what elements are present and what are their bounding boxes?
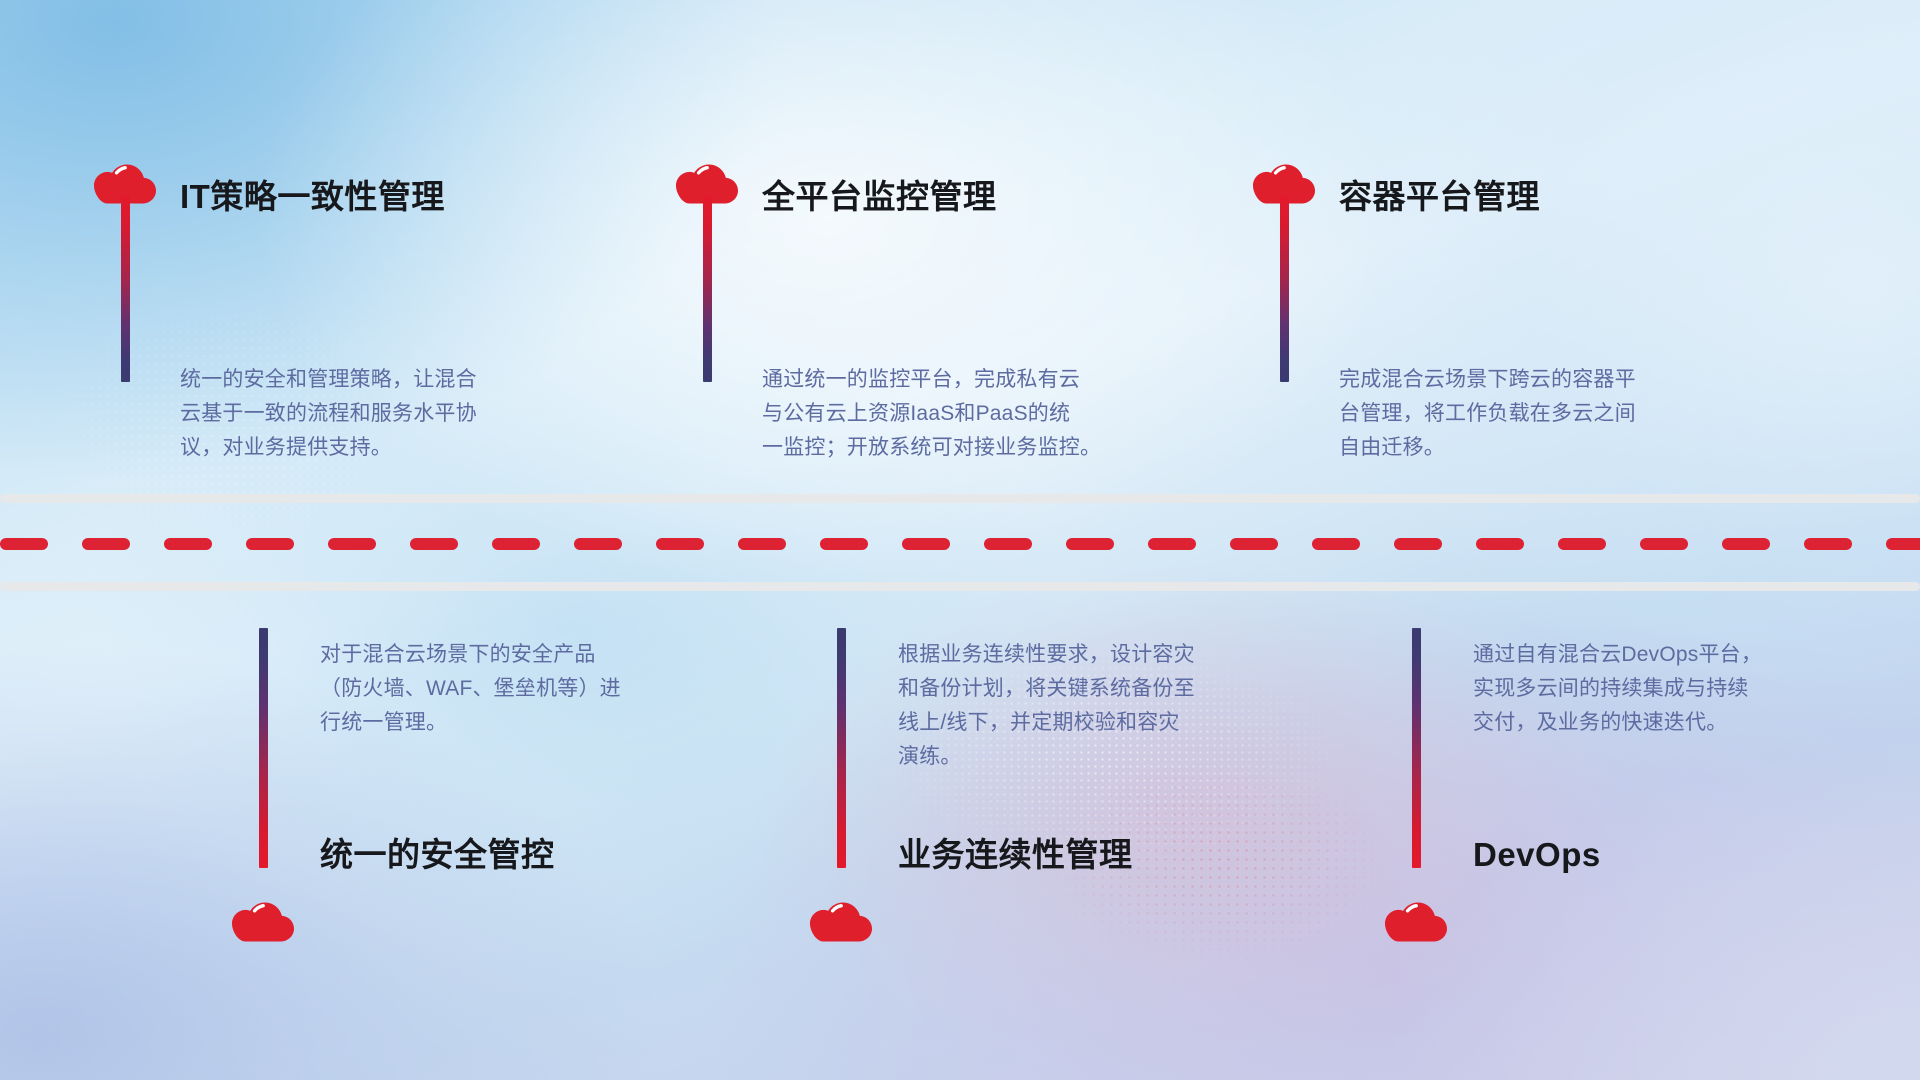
divider-dash <box>328 538 376 550</box>
divider-dash <box>902 538 950 550</box>
description-line: 自由迁移。 <box>1339 431 1704 465</box>
divider-dash <box>1312 538 1360 550</box>
description-line: 完成混合云场景下跨云的容器平 <box>1339 363 1704 397</box>
divider-dash <box>1066 538 1114 550</box>
description-line: 云基于一致的流程和服务水平协 <box>180 397 545 431</box>
description-line: 行统一管理。 <box>320 706 730 740</box>
feature-heading: IT策略一致性管理 <box>180 180 445 213</box>
feature-description: 统一的安全和管理策略，让混合 云基于一致的流程和服务水平协 议，对业务提供支持。 <box>180 363 545 465</box>
divider-dashed-line <box>0 538 1920 550</box>
feature-description: 完成混合云场景下跨云的容器平 台管理，将工作负载在多云之间 自由迁移。 <box>1339 363 1704 465</box>
feature-heading: DevOps <box>1473 838 1601 871</box>
connector-line <box>837 628 846 868</box>
connector-line <box>259 628 268 868</box>
divider-dash <box>1640 538 1688 550</box>
feature-description: 通过统一的监控平台，完成私有云 与公有云上资源IaaS和PaaS的统 一监控；开… <box>762 363 1142 465</box>
feature-description: 通过自有混合云DevOps平台， 实现多云间的持续集成与持续 交付，及业务的快速… <box>1473 638 1873 740</box>
connector-line <box>1412 628 1421 868</box>
divider-dash <box>164 538 212 550</box>
divider-dash <box>1148 538 1196 550</box>
divider-dash <box>1886 538 1920 550</box>
divider-rule-top <box>0 494 1920 503</box>
divider-dash <box>820 538 868 550</box>
divider-dash <box>574 538 622 550</box>
description-line: 演练。 <box>898 740 1308 774</box>
feature-heading: 全平台监控管理 <box>762 180 997 213</box>
divider-dash <box>1558 538 1606 550</box>
connector-line <box>1280 196 1289 382</box>
divider-dash <box>246 538 294 550</box>
description-line: 一监控；开放系统可对接业务监控。 <box>762 431 1142 465</box>
divider-dash <box>0 538 48 550</box>
description-line: 通过自有混合云DevOps平台， <box>1473 638 1873 672</box>
cloud-icon <box>1385 898 1447 942</box>
description-line: 与公有云上资源IaaS和PaaS的统 <box>762 397 1142 431</box>
connector-line <box>121 196 130 382</box>
divider-dash <box>1722 538 1770 550</box>
divider-dash <box>738 538 786 550</box>
description-line: 对于混合云场景下的安全产品 <box>320 638 730 672</box>
description-line: 议，对业务提供支持。 <box>180 431 545 465</box>
divider-dash <box>656 538 704 550</box>
feature-heading: 统一的安全管控 <box>320 838 555 871</box>
cloud-icon <box>810 898 872 942</box>
divider-dash <box>1230 538 1278 550</box>
description-line: 统一的安全和管理策略，让混合 <box>180 363 545 397</box>
description-line: 交付，及业务的快速迭代。 <box>1473 706 1873 740</box>
divider-dash <box>1804 538 1852 550</box>
divider-rule-bottom <box>0 582 1920 591</box>
feature-heading: 容器平台管理 <box>1339 180 1540 213</box>
description-line: 通过统一的监控平台，完成私有云 <box>762 363 1142 397</box>
divider-dash <box>1394 538 1442 550</box>
description-line: 实现多云间的持续集成与持续 <box>1473 672 1873 706</box>
divider-dash <box>410 538 458 550</box>
feature-description: 根据业务连续性要求，设计容灾 和备份计划，将关键系统备份至 线上/线下，并定期校… <box>898 638 1308 774</box>
description-line: （防火墙、WAF、堡垒机等）进 <box>320 672 730 706</box>
description-line: 根据业务连续性要求，设计容灾 <box>898 638 1308 672</box>
cloud-icon <box>232 898 294 942</box>
divider-dash <box>1476 538 1524 550</box>
divider-dash <box>82 538 130 550</box>
feature-heading: 业务连续性管理 <box>898 838 1133 871</box>
feature-description: 对于混合云场景下的安全产品 （防火墙、WAF、堡垒机等）进 行统一管理。 <box>320 638 730 740</box>
divider-dash <box>984 538 1032 550</box>
description-line: 线上/线下，并定期校验和容灾 <box>898 706 1308 740</box>
description-line: 台管理，将工作负载在多云之间 <box>1339 397 1704 431</box>
description-line: 和备份计划，将关键系统备份至 <box>898 672 1308 706</box>
connector-line <box>703 196 712 382</box>
divider-dash <box>492 538 540 550</box>
